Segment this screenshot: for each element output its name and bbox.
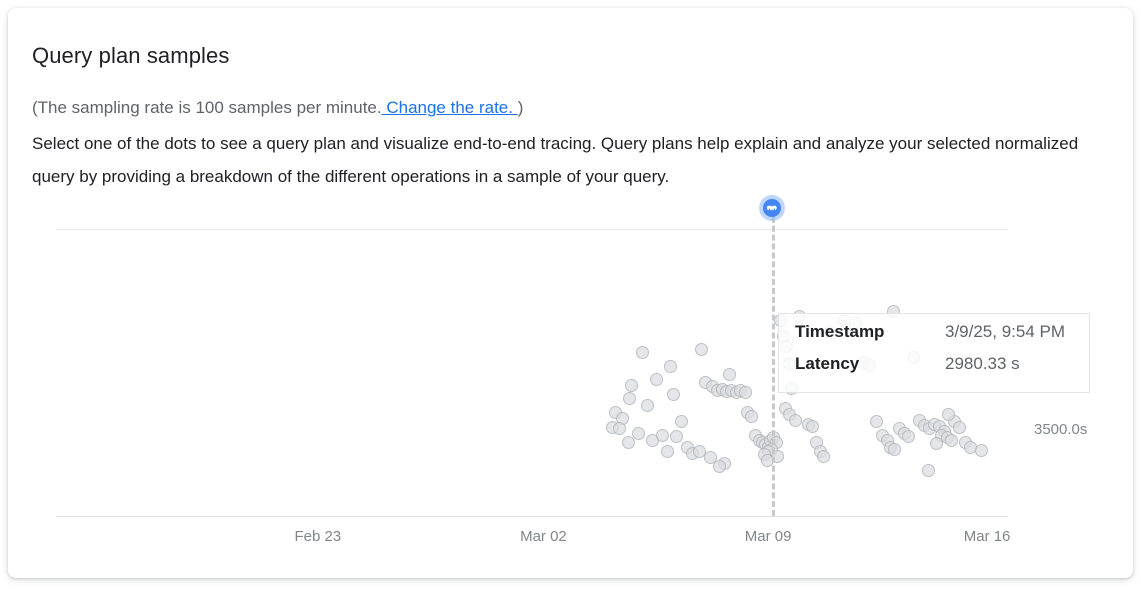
gridline-top	[56, 229, 1008, 230]
tooltip-timestamp-label: Timestamp	[795, 322, 945, 342]
sample-dot[interactable]	[745, 410, 758, 423]
sample-dot[interactable]	[789, 414, 802, 427]
query-plan-samples-card: Query plan samples (The sampling rate is…	[8, 8, 1133, 578]
sample-dot[interactable]	[622, 436, 635, 449]
sample-dot[interactable]	[975, 444, 988, 457]
axis-line-bottom	[56, 516, 1008, 517]
cursor-guide-line	[772, 208, 775, 516]
tooltip-timestamp-value: 3/9/25, 9:54 PM	[945, 322, 1065, 342]
sample-dot[interactable]	[650, 373, 663, 386]
sample-dot[interactable]	[695, 343, 708, 356]
selected-sample-dot[interactable]	[759, 195, 785, 221]
sample-dot[interactable]	[636, 346, 649, 359]
sample-tooltip: Timestamp 3/9/25, 9:54 PM Latency 2980.3…	[778, 313, 1090, 393]
sample-dot[interactable]	[656, 429, 669, 442]
tooltip-latency-value: 2980.33 s	[945, 354, 1020, 374]
tooltip-row-latency: Latency 2980.33 s	[795, 354, 1075, 386]
sample-dot[interactable]	[806, 420, 819, 433]
sample-dot[interactable]	[888, 443, 901, 456]
y-axis-tick-top: 3500.0s	[1034, 421, 1087, 438]
panel-description: Select one of the dots to see a query pl…	[32, 127, 1117, 193]
sample-dot[interactable]	[817, 450, 830, 463]
sample-dot[interactable]	[713, 460, 726, 473]
query-plan-samples-screen: Query plan samples (The sampling rate is…	[0, 0, 1141, 589]
sample-dot[interactable]	[953, 421, 966, 434]
sample-dot[interactable]	[945, 434, 958, 447]
sample-dot[interactable]	[922, 464, 935, 477]
sampling-rate-close-paren: )	[518, 98, 524, 117]
sample-dot[interactable]	[632, 427, 645, 440]
tooltip-latency-label: Latency	[795, 354, 945, 374]
x-axis-tick-2: Mar 09	[745, 528, 792, 545]
x-axis-tick-3: Mar 16	[964, 528, 1011, 545]
sample-dot[interactable]	[723, 368, 736, 381]
tooltip-row-timestamp: Timestamp 3/9/25, 9:54 PM	[795, 322, 1075, 354]
x-axis-tick-0: Feb 23	[294, 528, 341, 545]
change-the-rate-link[interactable]: Change the rate.	[382, 98, 518, 117]
sample-dot[interactable]	[670, 430, 683, 443]
sample-dot[interactable]	[641, 399, 654, 412]
sample-dot[interactable]	[664, 360, 677, 373]
sample-dot[interactable]	[870, 415, 883, 428]
sample-dot[interactable]	[613, 422, 626, 435]
sample-dot[interactable]	[739, 386, 752, 399]
sample-dot[interactable]	[623, 392, 636, 405]
sampling-rate-text: (The sampling rate is 100 samples per mi…	[32, 98, 382, 117]
sample-dot[interactable]	[625, 379, 638, 392]
sample-dot[interactable]	[667, 388, 680, 401]
sample-dot[interactable]	[930, 437, 943, 450]
sample-dot[interactable]	[661, 445, 674, 458]
sample-dot[interactable]	[675, 415, 688, 428]
sample-dot[interactable]	[902, 430, 915, 443]
selected-dot-inner	[763, 199, 781, 217]
sampling-rate-note: (The sampling rate is 100 samples per mi…	[32, 96, 523, 120]
x-axis-tick-1: Mar 02	[520, 528, 567, 545]
page-title: Query plan samples	[32, 42, 229, 70]
link-glyph-icon	[766, 202, 778, 214]
